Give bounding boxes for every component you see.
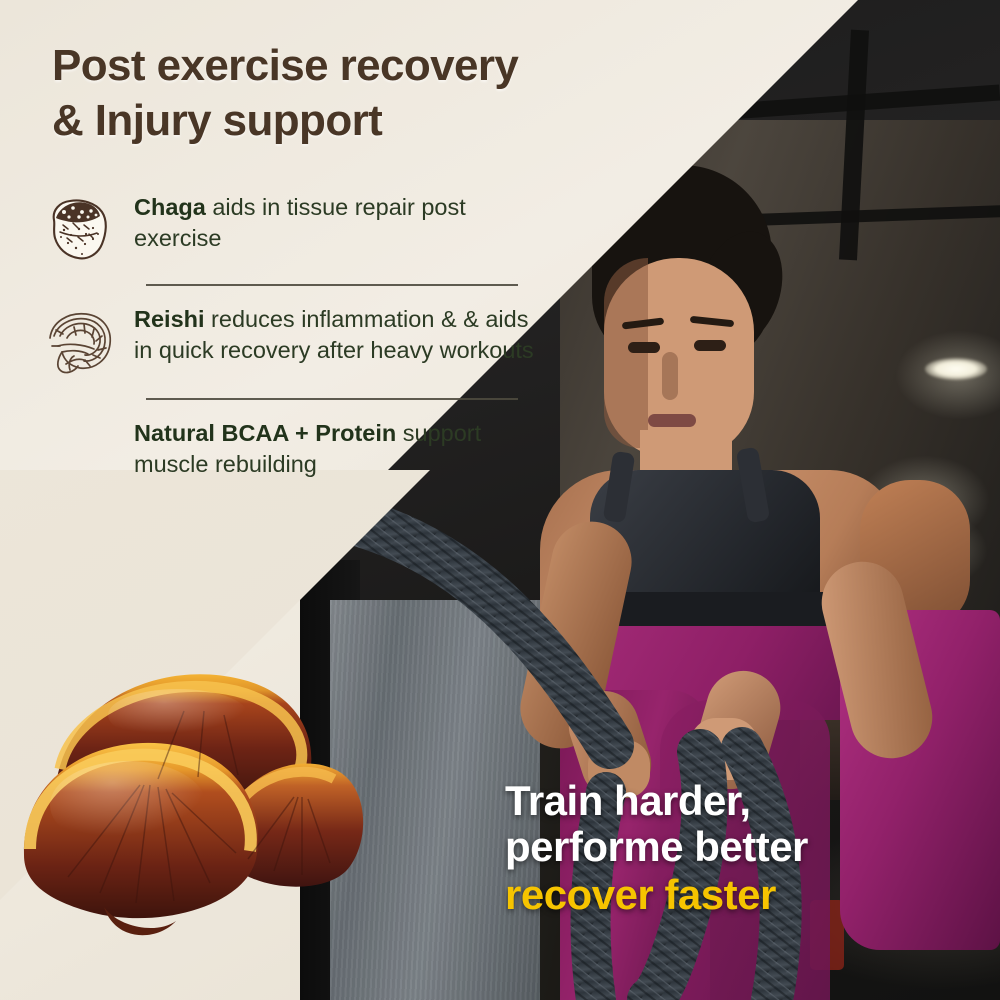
promo-line-2: performe better <box>505 824 985 870</box>
headline-line-2: & Injury support <box>52 93 692 148</box>
promo-headline: Train harder, performe better recover fa… <box>505 778 985 919</box>
reishi-mushroom-icon <box>40 300 118 382</box>
list-item: Chaga aids in tissue repair post exercis… <box>40 186 540 274</box>
reishi-mushroom-photo <box>8 645 368 945</box>
list-item-text: Chaga aids in tissue repair post exercis… <box>134 188 540 254</box>
list-item: Reishi reduces inflammation & & aids in … <box>40 298 540 388</box>
chaga-mushroom-icon <box>40 188 118 268</box>
list-item-text: Natural BCAA + Protein support muscle re… <box>134 414 540 480</box>
headline-line-1: Post exercise recovery <box>52 38 692 93</box>
list-item-bold: Natural BCAA + Protein <box>134 420 396 446</box>
list-item-text: Reishi reduces inflammation & & aids in … <box>134 300 540 366</box>
page-title: Post exercise recovery & Injury support <box>52 38 692 148</box>
list-item-bold: Reishi <box>134 306 205 332</box>
bullet-icon-spacer <box>40 414 118 416</box>
list-item-bold: Chaga <box>134 194 206 220</box>
benefit-list: Chaga aids in tissue repair post exercis… <box>40 186 540 486</box>
list-divider <box>146 398 518 400</box>
promo-banner: Post exercise recovery & Injury support <box>0 0 1000 1000</box>
promo-line-3: recover faster <box>505 872 985 918</box>
list-divider <box>146 284 518 286</box>
list-item: Natural BCAA + Protein support muscle re… <box>40 412 540 486</box>
promo-line-1: Train harder, <box>505 778 985 824</box>
